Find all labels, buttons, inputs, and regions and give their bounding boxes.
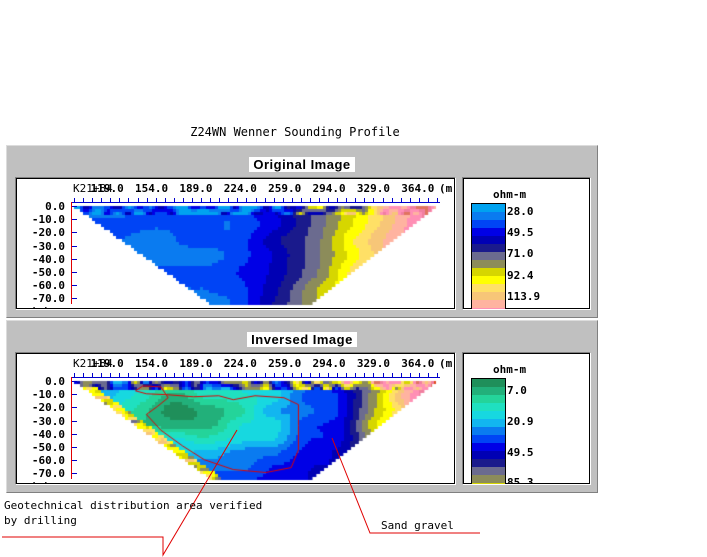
colorbar-tick-label: 71.0 (507, 247, 534, 260)
y-axis-tick (72, 421, 77, 422)
y-tick-label: -50.0 (16, 266, 65, 279)
page-title: Z24WN Wenner Sounding Profile (0, 125, 590, 139)
x-axis-tick (428, 373, 429, 377)
x-axis-tick (401, 373, 402, 377)
colorbar-swatch (472, 459, 505, 467)
y-axis-tick (72, 298, 77, 299)
x-tick-label: 329.0 (352, 357, 394, 370)
y-axis-line (71, 202, 72, 304)
x-axis-tick (410, 198, 411, 202)
x-axis-tick (310, 373, 311, 377)
x-axis-tick (437, 198, 438, 202)
x-tick-label: 119.0 (86, 357, 128, 370)
colorbar-swatch (472, 236, 505, 244)
y-tick-label: -40.0 (16, 253, 65, 266)
x-axis-tick (328, 198, 329, 202)
x-axis-tick (83, 373, 84, 377)
x-axis-tick (310, 198, 311, 202)
x-axis-tick (156, 373, 157, 377)
y-tick-label: -20.0 (16, 226, 65, 239)
inversed-legend-unit: ohm-m (493, 363, 526, 376)
x-axis-tick (328, 373, 329, 377)
colorbar-swatch (472, 451, 505, 459)
y-axis-tick (72, 460, 77, 461)
x-axis-tick (292, 373, 293, 377)
colorbar-swatch (472, 276, 505, 284)
y-tick-label: -60.0 (16, 454, 65, 467)
x-axis-tick (237, 373, 238, 377)
x-axis-tick (147, 198, 148, 202)
x-axis-tick (256, 373, 257, 377)
x-axis-tick (92, 198, 93, 202)
x-axis-tick (301, 198, 302, 202)
x-axis-tick (392, 373, 393, 377)
x-axis-tick (292, 198, 293, 202)
original-plot-box: K21+84119.0154.0189.0224.0259.0294.0329.… (15, 177, 456, 310)
y-tick-label: -70.0 (16, 467, 65, 480)
colorbar-swatch (472, 411, 505, 419)
colorbar-tick-label: 85.3 (507, 476, 534, 485)
y-tick-label: -20.0 (16, 401, 65, 414)
y-tick-label: -60.0 (16, 279, 65, 292)
x-axis-tick (428, 198, 429, 202)
y-tick-label: -10.0 (16, 213, 65, 226)
y-axis-tick (72, 407, 77, 408)
colorbar-swatch (472, 212, 505, 220)
x-axis-tick (138, 198, 139, 202)
colorbar-tick-label: 20.9 (507, 415, 534, 428)
colorbar-tick-label: 49.5 (507, 226, 534, 239)
x-axis-tick (128, 373, 129, 377)
x-axis-tick (246, 198, 247, 202)
x-tick-label: 259.0 (264, 182, 306, 195)
x-axis-tick (110, 373, 111, 377)
x-tick-label: 119.0 (86, 182, 128, 195)
x-axis-tick (283, 373, 284, 377)
x-axis-line (71, 377, 440, 378)
colorbar-tick-label: 92.4 (507, 269, 534, 282)
y-axis-tick (72, 259, 77, 260)
colorbar-swatch (472, 300, 505, 308)
x-axis-tick (392, 198, 393, 202)
x-axis-tick (346, 198, 347, 202)
x-axis-tick (364, 198, 365, 202)
inversed-image-label-text: Inversed Image (247, 332, 357, 347)
y-axis-unit: (m) (30, 480, 50, 485)
colorbar-swatch (472, 268, 505, 276)
inversed-plot-box: K21+84119.0154.0189.0224.0259.0294.0329.… (15, 352, 456, 485)
original-image-label-text: Original Image (249, 157, 354, 172)
x-axis-tick (256, 198, 257, 202)
x-tick-label: 154.0 (131, 182, 173, 195)
x-axis-tick (319, 198, 320, 202)
x-axis-tick (110, 198, 111, 202)
y-axis-tick (72, 232, 77, 233)
colorbar-swatch (472, 427, 505, 435)
y-tick-label: -30.0 (16, 415, 65, 428)
x-tick-label: 154.0 (131, 357, 173, 370)
x-tick-label: 364.0 (397, 357, 439, 370)
inversed-section-canvas (16, 353, 453, 482)
original-legend-unit: ohm-m (493, 188, 526, 201)
x-tick-label: 224.0 (219, 182, 261, 195)
x-axis-tick (165, 373, 166, 377)
x-axis-tick (128, 198, 129, 202)
colorbar-swatch (472, 395, 505, 403)
colorbar-swatch (472, 244, 505, 252)
x-axis-tick (192, 198, 193, 202)
x-axis-tick (147, 373, 148, 377)
x-tick-label: 294.0 (308, 182, 350, 195)
x-tick-label: 329.0 (352, 182, 394, 195)
x-axis-tick (92, 373, 93, 377)
y-axis-tick (72, 394, 77, 395)
x-tick-label: 189.0 (175, 357, 217, 370)
x-axis-tick (219, 198, 220, 202)
x-tick-label: 189.0 (175, 182, 217, 195)
x-axis-tick (319, 373, 320, 377)
x-axis-tick (165, 198, 166, 202)
x-axis-tick (355, 198, 356, 202)
colorbar-swatch (472, 443, 505, 451)
colorbar-swatch (472, 467, 505, 475)
geotech-annotation-text: Geotechnical distribution area verified … (4, 498, 262, 528)
inversed-legend-box: ohm-m 7.020.949.585.3121.1256.6 (462, 352, 591, 485)
x-axis-tick (156, 198, 157, 202)
colorbar-swatch (472, 220, 505, 228)
x-axis-tick (138, 373, 139, 377)
x-axis-tick (355, 373, 356, 377)
y-axis-tick (72, 206, 77, 207)
x-tick-label: 294.0 (308, 357, 350, 370)
x-axis-tick (346, 373, 347, 377)
x-axis-tick (183, 373, 184, 377)
x-axis-tick (219, 373, 220, 377)
x-axis-tick (246, 373, 247, 377)
y-axis-tick (72, 447, 77, 448)
x-axis-tick (410, 373, 411, 377)
x-axis-tick (210, 198, 211, 202)
x-axis-tick (228, 198, 229, 202)
y-tick-label: -40.0 (16, 428, 65, 441)
y-axis-tick (72, 285, 77, 286)
original-image-label: Original Image (7, 154, 597, 173)
x-axis-tick (373, 373, 374, 377)
y-axis-tick (72, 381, 77, 382)
colorbar-swatch (472, 252, 505, 260)
y-tick-label: -30.0 (16, 240, 65, 253)
x-axis-tick (74, 373, 75, 377)
y-axis-tick (72, 246, 77, 247)
x-axis-tick (265, 198, 266, 202)
x-tick-label: 259.0 (264, 357, 306, 370)
colorbar-swatch (472, 204, 505, 212)
x-axis-tick (337, 198, 338, 202)
x-axis-tick (337, 373, 338, 377)
colorbar-swatch (472, 435, 505, 443)
x-axis-tick (274, 198, 275, 202)
colorbar-swatch (472, 260, 505, 268)
x-axis-tick (401, 198, 402, 202)
y-tick-label: -10.0 (16, 388, 65, 401)
x-axis-tick (201, 198, 202, 202)
colorbar-tick-label: 49.5 (507, 446, 534, 459)
original-image-panel: Original Image K21+84119.0154.0189.0224.… (6, 145, 598, 318)
x-axis-tick (283, 198, 284, 202)
colorbar-swatch (472, 403, 505, 411)
x-axis-tick (228, 373, 229, 377)
x-axis-tick (74, 198, 75, 202)
x-axis-tick (383, 198, 384, 202)
colorbar-swatch (472, 475, 505, 483)
x-axis-tick (373, 198, 374, 202)
colorbar-swatch (472, 483, 505, 485)
x-axis-tick (174, 198, 175, 202)
x-axis-unit: (m) (439, 357, 456, 370)
x-axis-tick (419, 373, 420, 377)
figure-root: Z24WN Wenner Sounding Profile Original I… (0, 0, 707, 557)
x-axis-tick (174, 373, 175, 377)
x-tick-label: 364.0 (397, 182, 439, 195)
y-axis-tick (72, 219, 77, 220)
inversed-image-panel: Inversed Image K21+84119.0154.0189.0224.… (6, 320, 598, 493)
colorbar-swatch (472, 284, 505, 292)
inversed-image-label: Inversed Image (7, 329, 597, 348)
colorbar-swatch (472, 419, 505, 427)
x-axis-tick (437, 373, 438, 377)
x-axis-tick (364, 373, 365, 377)
x-axis-tick (183, 198, 184, 202)
x-axis-unit: (m) (439, 182, 456, 195)
original-legend-box: ohm-m 28.049.571.092.4113.9135.4 (462, 177, 591, 310)
y-tick-label: -50.0 (16, 441, 65, 454)
x-axis-tick (83, 198, 84, 202)
sand-gravel-annotation-text: Sand gravel (381, 518, 454, 533)
x-axis-tick (237, 198, 238, 202)
y-tick-label: 0.0 (16, 200, 65, 213)
y-tick-label: -70.0 (16, 292, 65, 305)
colorbar-swatch (472, 228, 505, 236)
colorbar-swatch (472, 379, 505, 387)
x-axis-tick (101, 373, 102, 377)
x-axis-tick (383, 373, 384, 377)
x-axis-tick (265, 373, 266, 377)
colorbar-swatch (472, 292, 505, 300)
x-axis-tick (419, 198, 420, 202)
colorbar-swatch (472, 387, 505, 395)
y-axis-tick (72, 272, 77, 273)
x-axis-tick (201, 373, 202, 377)
x-axis-tick (301, 373, 302, 377)
y-axis-tick (72, 434, 77, 435)
y-axis-tick (72, 473, 77, 474)
y-axis-unit: (m) (30, 305, 50, 310)
x-axis-tick (119, 373, 120, 377)
original-pseudosection-canvas (16, 178, 453, 307)
y-tick-label: 0.0 (16, 375, 65, 388)
colorbar-tick-label: 113.9 (507, 290, 540, 303)
colorbar-swatch (472, 308, 505, 310)
x-axis-line (71, 202, 440, 203)
x-axis-tick (192, 373, 193, 377)
x-axis-tick (210, 373, 211, 377)
x-tick-label: 224.0 (219, 357, 261, 370)
y-axis-line (71, 377, 72, 479)
original-colorbar (471, 203, 506, 310)
colorbar-tick-label: 7.0 (507, 384, 527, 397)
x-axis-tick (119, 198, 120, 202)
x-axis-tick (274, 373, 275, 377)
x-axis-tick (101, 198, 102, 202)
inversed-colorbar (471, 378, 506, 485)
colorbar-tick-label: 28.0 (507, 205, 534, 218)
